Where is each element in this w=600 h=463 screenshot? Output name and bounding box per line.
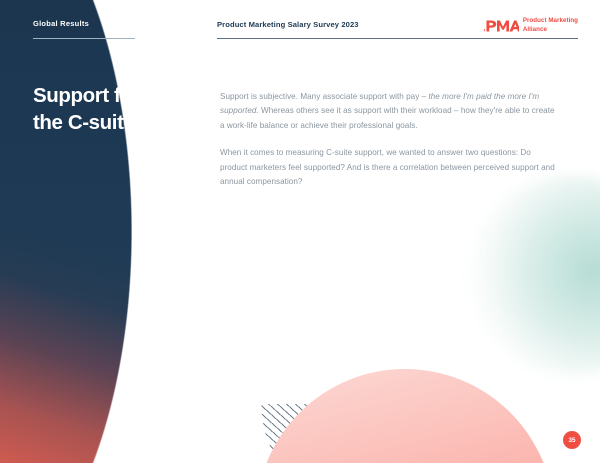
document-title: Product Marketing Salary Survey 2023 [217, 20, 359, 29]
paragraph-1: Support is subjective. Many associate su… [220, 90, 555, 133]
paragraph-1-tail: Whereas others see it as support with th… [220, 106, 555, 129]
panel-content: Global Results Support from the C-suite [0, 0, 210, 463]
page-title: Support from the C-suite [33, 82, 203, 137]
paragraph-2: When it comes to measuring C-suite suppo… [220, 146, 555, 189]
slide-canvas: Global Results Support from the C-suite … [0, 0, 600, 463]
logo-line-2: Alliance [523, 26, 547, 33]
body-copy: Support is subjective. Many associate su… [220, 90, 555, 189]
page-number-badge: 35 [563, 431, 581, 449]
pma-logo: Product Marketing Alliance [483, 17, 578, 34]
diagonal-hatch-pattern [247, 404, 367, 463]
section-eyebrow-label: Global Results [33, 19, 89, 28]
paragraph-1-lead: Support is subjective. Many associate su… [220, 92, 428, 101]
logo-line-1: Product Marketing [523, 17, 578, 24]
pma-logomark-icon [483, 18, 519, 33]
eyebrow-divider [33, 38, 135, 39]
pma-logo-wordmark: Product Marketing Alliance [523, 17, 578, 34]
teal-gradient-blob [470, 175, 600, 375]
header-divider [217, 38, 578, 39]
slide-header: Product Marketing Salary Survey 2023 Pro… [217, 17, 578, 39]
pink-gradient-circle [256, 369, 554, 463]
